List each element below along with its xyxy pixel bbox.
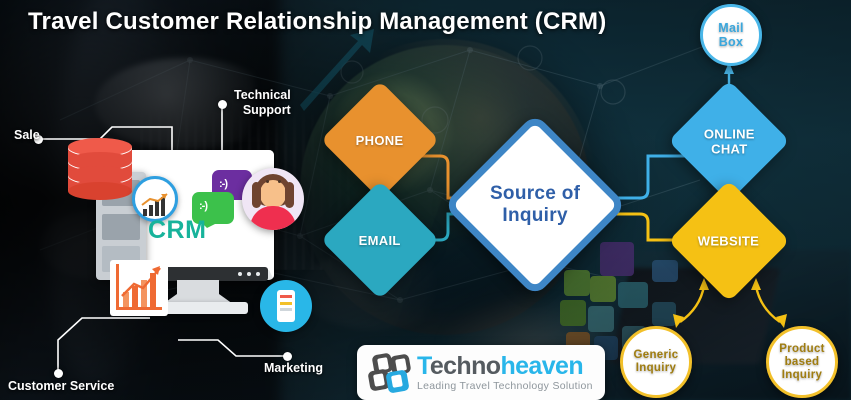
callout-label-marketing: Marketing xyxy=(264,361,323,375)
node-product-based-inquiry-label: Product based Inquiry xyxy=(779,343,825,382)
source-line2: Inquiry xyxy=(502,205,567,226)
product-inquiry-line1: Product xyxy=(779,343,825,355)
node-email-label: EMAIL xyxy=(359,232,401,247)
infographic-canvas: Travel Customer Relationship Management … xyxy=(0,0,851,400)
product-inquiry-line3: Inquiry xyxy=(782,369,822,381)
page-title: Travel Customer Relationship Management … xyxy=(28,8,606,36)
mail-box-line2: Box xyxy=(719,35,744,49)
node-product-based-inquiry[interactable]: Product based Inquiry xyxy=(766,326,838,398)
technical-support-line2: Support xyxy=(234,103,291,118)
mobile-phone-badge-icon xyxy=(260,280,312,332)
node-mail-box[interactable]: Mail Box xyxy=(700,4,762,66)
node-phone-label: PHONE xyxy=(356,132,404,147)
node-website-label: WEBSITE xyxy=(698,233,759,248)
source-line1: Source of xyxy=(490,183,580,204)
mail-box-line1: Mail xyxy=(718,21,744,35)
callout-label-sale: Sale xyxy=(14,128,40,142)
callout-dot-customer-service xyxy=(54,369,63,378)
callout-dot-technical-support xyxy=(218,100,227,109)
bar-chart-icon xyxy=(110,260,168,316)
callout-dot-marketing xyxy=(283,352,292,361)
node-mail-box-label: Mail Box xyxy=(718,21,744,49)
crm-illustration: :-) :-) CRM xyxy=(60,120,320,370)
customer-avatar-icon xyxy=(242,168,304,230)
node-online-chat-label: ONLINE CHAT xyxy=(704,126,755,156)
database-icon xyxy=(68,138,132,200)
online-chat-line1: ONLINE xyxy=(704,126,755,141)
callout-label-customer-service: Customer Service xyxy=(8,379,114,393)
technoheaven-logo[interactable]: Technoheaven Leading Travel Technology S… xyxy=(357,345,605,400)
technoheaven-logo-mark-icon xyxy=(367,354,413,392)
product-inquiry-line2: based xyxy=(785,356,820,368)
callout-label-technical-support: Technical Support xyxy=(234,88,291,118)
online-chat-line2: CHAT xyxy=(711,141,747,156)
logo-wordmark: Technoheaven xyxy=(417,354,593,379)
logo-name-part1: T xyxy=(417,352,430,380)
node-source-of-inquiry-label: Source of Inquiry xyxy=(490,183,580,227)
technical-support-line1: Technical xyxy=(234,88,291,103)
logo-tagline: Leading Travel Technology Solution xyxy=(417,381,593,392)
logo-name-part3: heaven xyxy=(500,352,583,380)
crm-center-label: CRM xyxy=(148,216,206,245)
node-generic-inquiry[interactable]: Generic Inquiry xyxy=(620,326,692,398)
logo-name-part2: echno xyxy=(430,352,501,380)
generic-inquiry-line2: Inquiry xyxy=(636,362,676,374)
generic-inquiry-line1: Generic xyxy=(634,349,679,361)
node-generic-inquiry-label: Generic Inquiry xyxy=(634,349,679,375)
